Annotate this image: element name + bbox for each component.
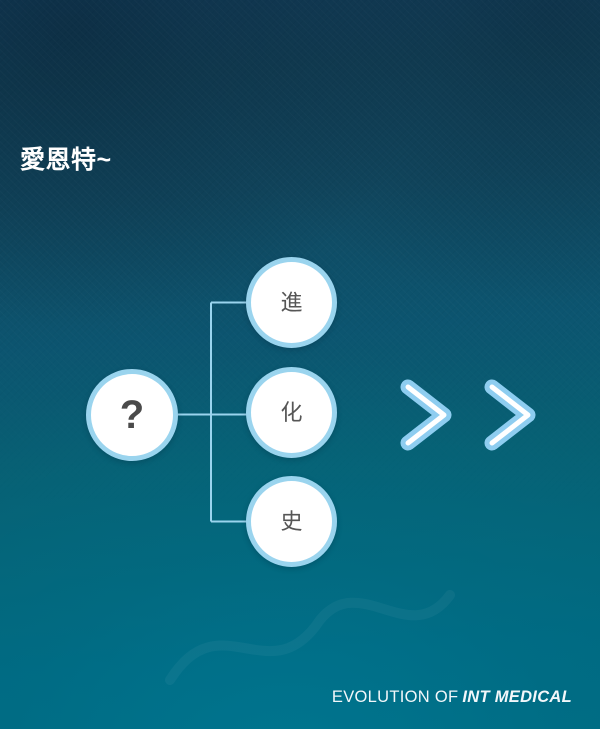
footer-brand: INT MEDICAL: [462, 688, 572, 706]
chevron-right-2-icon: [482, 379, 542, 451]
node-ka-label: 化: [280, 402, 302, 424]
slide-canvas: 愛恩特~ ? 進 化 史 EVOLUTION OFINT MEDICAL: [0, 0, 600, 729]
question-mark-label: ?: [120, 395, 144, 435]
question-node[interactable]: ?: [86, 369, 178, 461]
node-shi-label: 史: [280, 511, 302, 533]
node-jin-label: 進: [280, 292, 302, 314]
node-jin[interactable]: 進: [246, 257, 337, 348]
tree-connectors: [0, 0, 600, 729]
chevron-right-1-icon: [398, 379, 458, 451]
node-ka[interactable]: 化: [246, 367, 337, 458]
node-shi[interactable]: 史: [246, 476, 337, 567]
footer-lead: EVOLUTION OF: [332, 688, 458, 706]
footer-caption: EVOLUTION OFINT MEDICAL: [332, 688, 572, 707]
